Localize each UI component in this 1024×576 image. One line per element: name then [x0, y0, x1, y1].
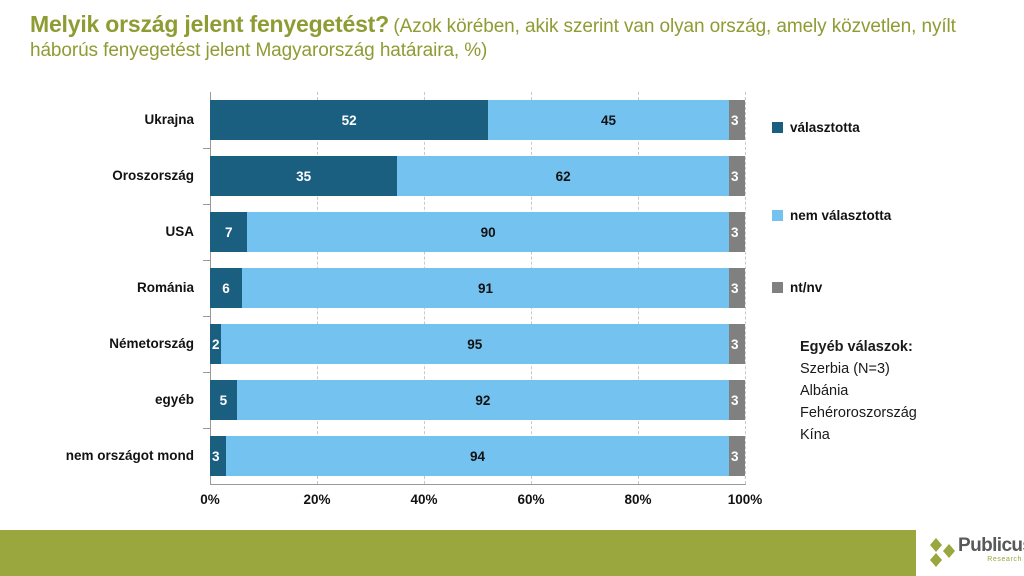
- diamond-logo-icon: [928, 538, 956, 568]
- legend-item-nem-v-lasztotta[interactable]: nem választotta: [772, 208, 891, 223]
- category-label: Oroszország: [0, 156, 194, 196]
- bar-segment-nem-v-lasztotta: 95: [221, 324, 729, 364]
- bar-segment-nem-v-lasztotta: 62: [397, 156, 729, 196]
- gridline-100: [745, 92, 747, 484]
- other-answers-list: Szerbia (N=3)AlbániaFehéroroszországKína: [800, 358, 1020, 446]
- legend-label: választotta: [790, 120, 860, 135]
- bar-row: USA7903: [210, 212, 745, 252]
- legend-item-v-lasztotta[interactable]: választotta: [772, 120, 860, 135]
- bar-segment-nem-v-lasztotta: 90: [247, 212, 729, 252]
- bar-segment-v-lasztotta: 5: [210, 380, 237, 420]
- x-axis-tick-labels: 0%20%40%60%80%100%: [210, 492, 745, 514]
- bar-segment-v-lasztotta: 6: [210, 268, 242, 308]
- bar-segment-nt-nv: 3: [729, 436, 745, 476]
- bar-segment-v-lasztotta: 3: [210, 436, 226, 476]
- bar-segment-v-lasztotta: 2: [210, 324, 221, 364]
- y-axis-tick: [203, 372, 210, 373]
- category-label: Németország: [0, 324, 194, 364]
- bar-segment-v-lasztotta: 52: [210, 100, 488, 140]
- logo-wordmark: Publicus Research: [958, 536, 1022, 563]
- bar-segment-nt-nv: 3: [729, 380, 745, 420]
- other-answers-title: Egyéb válaszok:: [800, 336, 1020, 358]
- bar-segment-nt-nv: 3: [729, 156, 745, 196]
- bar-segment-v-lasztotta: 35: [210, 156, 397, 196]
- bar-segment-nt-nv: 3: [729, 212, 745, 252]
- legend-label: nt/nv: [790, 280, 822, 295]
- x-tick-label: 20%: [303, 492, 330, 507]
- logo-name: Publicus: [958, 536, 1022, 555]
- y-axis-tick: [203, 148, 210, 149]
- y-axis-tick: [203, 260, 210, 261]
- stacked-bar-chart: Ukrajna52453Oroszország35623USA7903Román…: [0, 88, 790, 518]
- title-main: Melyik ország jelent fenyegetést?: [30, 11, 389, 37]
- x-tick-label: 100%: [728, 492, 763, 507]
- legend-swatch-icon: [772, 282, 783, 293]
- other-answers-block: Egyéb válaszok: Szerbia (N=3)AlbániaFehé…: [800, 336, 1020, 446]
- plot-area: Ukrajna52453Oroszország35623USA7903Román…: [210, 92, 745, 484]
- bar-row: Oroszország35623: [210, 156, 745, 196]
- bar-row: egyéb5923: [210, 380, 745, 420]
- bar-segment-v-lasztotta: 7: [210, 212, 247, 252]
- publicus-research-logo: Publicus Research: [928, 534, 1020, 574]
- bar-row: nem országot mond3943: [210, 436, 745, 476]
- other-answer-item: Szerbia (N=3): [800, 358, 1020, 380]
- legend-item-nt-nv[interactable]: nt/nv: [772, 280, 822, 295]
- category-label: nem országot mond: [0, 436, 194, 476]
- bar-row: Németország2953: [210, 324, 745, 364]
- other-answer-item: Albánia: [800, 380, 1020, 402]
- bar-segment-nt-nv: 3: [729, 100, 745, 140]
- legend-label: nem választotta: [790, 208, 891, 223]
- y-axis-tick: [203, 428, 210, 429]
- x-tick-label: 80%: [624, 492, 651, 507]
- bar-segment-nem-v-lasztotta: 94: [226, 436, 729, 476]
- x-tick-label: 40%: [410, 492, 437, 507]
- bar-segment-nem-v-lasztotta: 45: [488, 100, 729, 140]
- category-label: egyéb: [0, 380, 194, 420]
- category-label: Ukrajna: [0, 100, 194, 140]
- page-title: Melyik ország jelent fenyegetést? (Azok …: [30, 10, 970, 64]
- category-label: USA: [0, 212, 194, 252]
- x-tick-label: 60%: [517, 492, 544, 507]
- bar-segment-nem-v-lasztotta: 91: [242, 268, 729, 308]
- other-answer-item: Kína: [800, 424, 1020, 446]
- bar-segment-nem-v-lasztotta: 92: [237, 380, 729, 420]
- logo-tagline: Research: [958, 556, 1022, 563]
- x-tick-label: 0%: [200, 492, 220, 507]
- footer-accent-bar: [0, 530, 916, 576]
- legend-swatch-icon: [772, 210, 783, 221]
- legend-swatch-icon: [772, 122, 783, 133]
- bar-segment-nt-nv: 3: [729, 268, 745, 308]
- x-axis-line: [210, 484, 746, 485]
- category-label: Románia: [0, 268, 194, 308]
- bar-row: Ukrajna52453: [210, 100, 745, 140]
- bar-row: Románia6913: [210, 268, 745, 308]
- bar-segment-nt-nv: 3: [729, 324, 745, 364]
- y-axis-tick: [203, 316, 210, 317]
- other-answer-item: Fehéroroszország: [800, 402, 1020, 424]
- y-axis-tick: [203, 204, 210, 205]
